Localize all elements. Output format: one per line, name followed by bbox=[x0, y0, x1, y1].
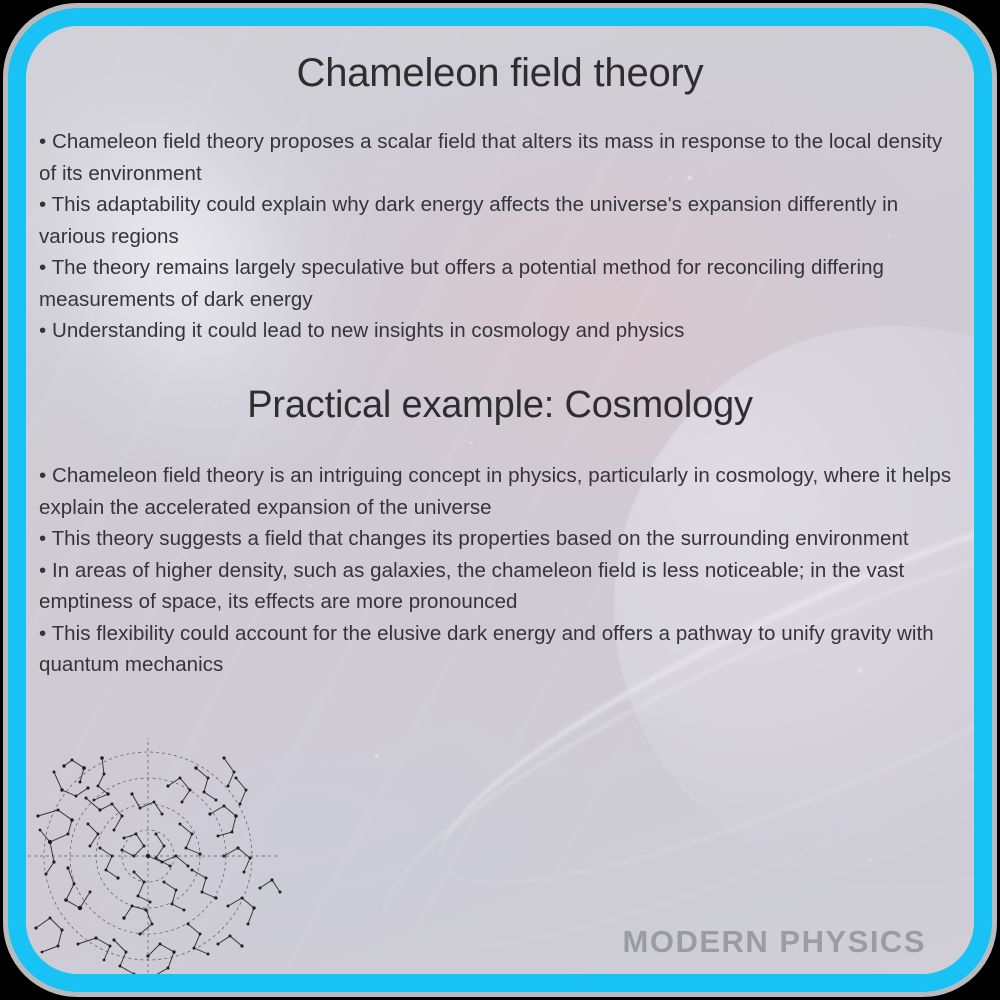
brand-watermark: MODERN PHYSICS bbox=[623, 924, 926, 960]
page-title: Chameleon field theory bbox=[26, 51, 974, 96]
list-item: • Understanding it could lead to new ins… bbox=[39, 315, 952, 347]
list-item: • This flexibility could account for the… bbox=[39, 618, 952, 681]
bullet-list-secondary: • Chameleon field theory is an intriguin… bbox=[39, 460, 952, 681]
slide-root: Chameleon field theory • Chameleon field… bbox=[0, 0, 1000, 1000]
list-item: • This theory suggests a field that chan… bbox=[39, 523, 952, 555]
list-item: • In areas of higher density, such as ga… bbox=[39, 555, 952, 618]
list-item: • The theory remains largely speculative… bbox=[39, 252, 952, 315]
slide-content: Chameleon field theory • Chameleon field… bbox=[26, 26, 974, 974]
list-item: • This adaptability could explain why da… bbox=[39, 189, 952, 252]
section-title: Practical example: Cosmology bbox=[26, 384, 974, 427]
slide-card: Chameleon field theory • Chameleon field… bbox=[26, 26, 974, 974]
bullet-list-primary: • Chameleon field theory proposes a scal… bbox=[39, 126, 952, 347]
list-item: • Chameleon field theory is an intriguin… bbox=[39, 460, 952, 523]
list-item: • Chameleon field theory proposes a scal… bbox=[39, 126, 952, 189]
